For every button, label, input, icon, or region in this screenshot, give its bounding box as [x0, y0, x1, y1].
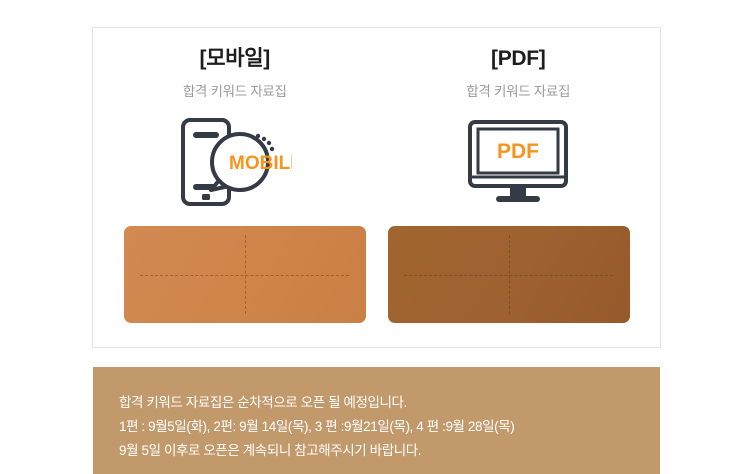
placeholder-guide-vertical — [245, 235, 246, 315]
pdf-icon-wrap: PDF — [466, 114, 570, 210]
mobile-icon-wrap: MOBILE — [177, 114, 292, 210]
notice-banner: 합격 키워드 자료집은 순차적으로 오픈 될 예정입니다. 1편 : 9월5일(… — [93, 367, 660, 474]
page-root: [모바일] 합격 키워드 자료집 — [0, 0, 753, 474]
page-subtitle-mobile: 합격 키워드 자료집 — [183, 80, 287, 100]
page-subtitle-pdf: 합격 키워드 자료집 — [466, 80, 570, 100]
placeholder-guide-vertical — [509, 235, 510, 315]
page-title-mobile: [모바일] — [200, 46, 270, 72]
placeholder-gap — [366, 226, 388, 323]
notice-line-1: 합격 키워드 자료집은 순차적으로 오픈 될 예정입니다. — [119, 391, 660, 415]
placeholder-image-mobile[interactable] — [124, 226, 366, 323]
product-card: [모바일] 합격 키워드 자료집 — [92, 27, 661, 348]
notice-line-2: 1편 : 9월5일(화), 2편: 9월 14일(목), 3 편 :9월21일(… — [119, 415, 660, 439]
page-title-pdf: [PDF] — [491, 46, 546, 72]
mobile-chat-icon: MOBILE — [177, 116, 292, 208]
notice-line-3: 9월 5일 이후로 오픈은 계속되니 참고해주시기 바랍니다. — [119, 439, 660, 463]
mobile-icon-label: MOBILE — [229, 153, 292, 174]
pdf-icon-label: PDF — [497, 140, 539, 163]
desktop-monitor-icon: PDF — [466, 116, 570, 208]
placeholder-row — [123, 226, 630, 323]
placeholder-image-pdf[interactable] — [388, 226, 630, 323]
